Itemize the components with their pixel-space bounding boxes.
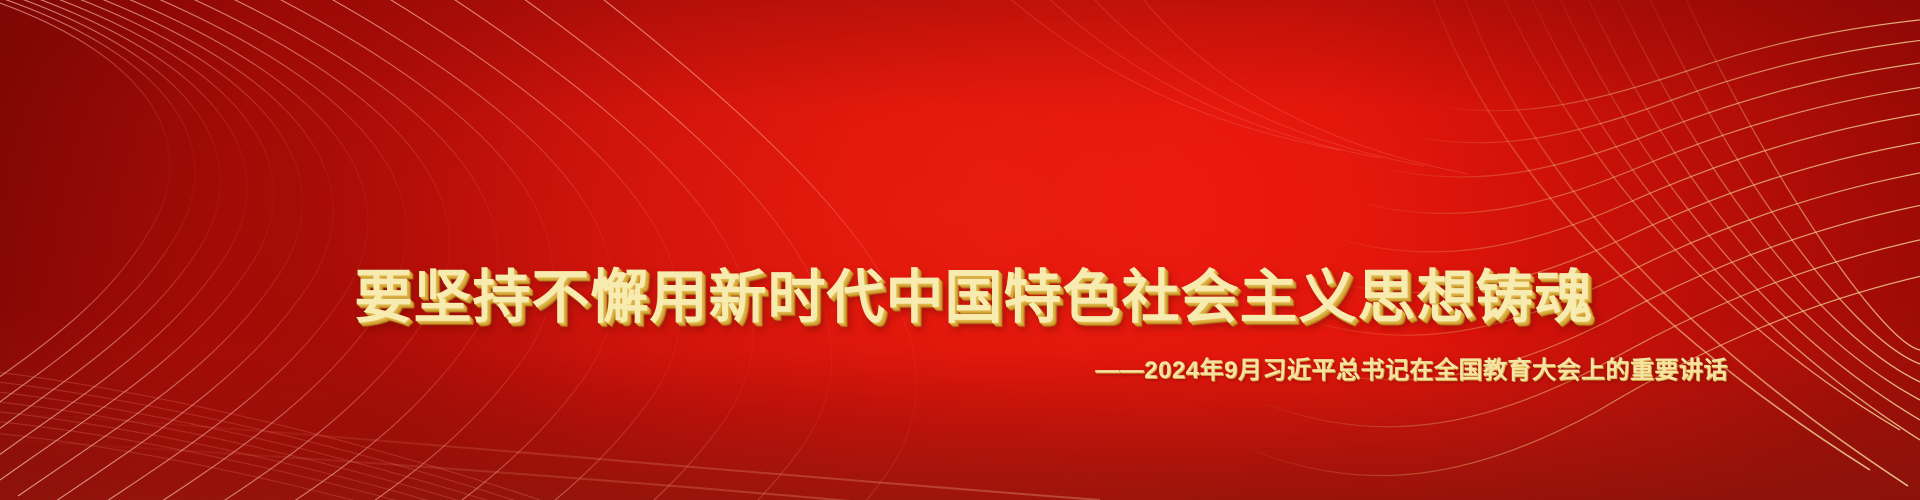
attribution-source: ——2024年9月习近平总书记在全国教育大会上的重要讲话 (1095, 350, 1728, 385)
promotional-banner: 要坚持不懈用新时代中国特色社会主义思想铸魂 育人，实施新时代立德树人工程。 ——… (0, 0, 1920, 500)
headline: 要坚持不懈用新时代中国特色社会主义思想铸魂 育人，实施新时代立德树人工程。 (0, 98, 1920, 500)
headline-line-1: 要坚持不懈用新时代中国特色社会主义思想铸魂 (0, 258, 1920, 338)
banner-content: 要坚持不懈用新时代中国特色社会主义思想铸魂 育人，实施新时代立德树人工程。 ——… (0, 0, 1920, 500)
